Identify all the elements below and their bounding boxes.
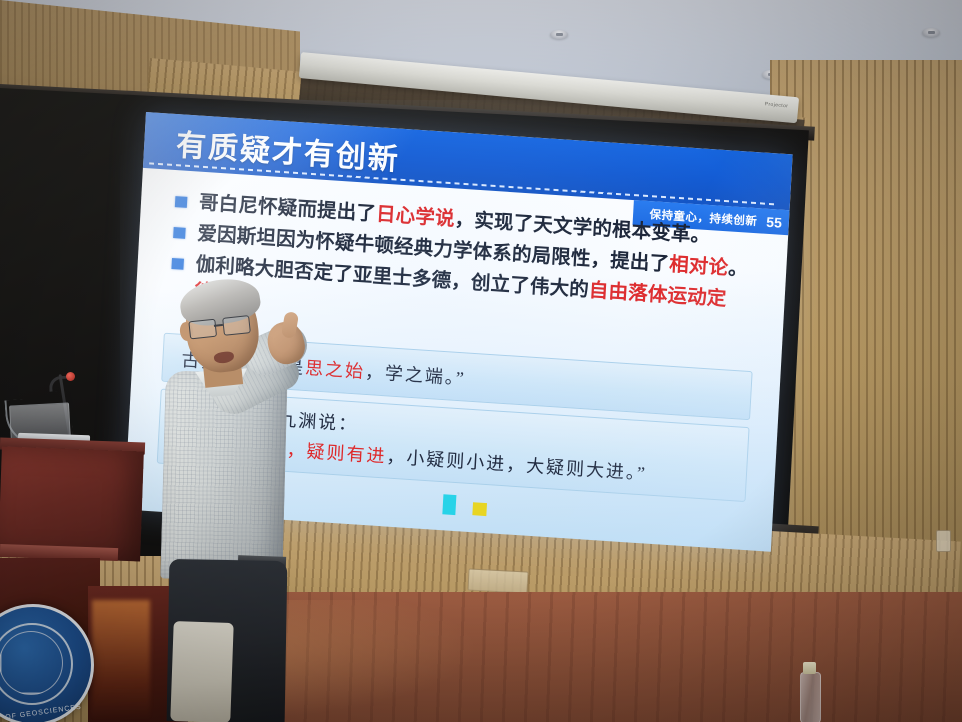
bullet-post: 。	[728, 257, 749, 280]
presenter-leg-highlight	[170, 621, 233, 722]
projector-roller-label: Projector	[764, 101, 788, 109]
university-emblem: OF GEOSCIENCES	[0, 604, 94, 722]
slide-number: 55	[766, 213, 782, 230]
sprinkler-icon	[922, 28, 940, 37]
wall-socket	[936, 530, 951, 552]
bullet-square-icon	[171, 258, 184, 270]
decor-chip-yellow	[472, 502, 487, 516]
emblem-text-wrap: OF GEOSCIENCES	[0, 607, 91, 722]
sprinkler-icon	[550, 30, 568, 39]
bullet-square-icon	[173, 227, 186, 239]
decor-chip-cyan	[442, 494, 456, 515]
bullet-highlight: 相对论	[669, 253, 729, 279]
lecture-hall-screenshot: Projector 有质疑才有创新 保持童心，持续创新 55 哥白尼怀疑而提出了…	[0, 0, 962, 722]
bullet-pre: 哥白尼怀疑而提出了	[198, 192, 376, 226]
bullet-highlight: 日心学说	[375, 203, 455, 230]
glasses-lens-right	[222, 315, 251, 336]
wall-plate	[467, 568, 528, 593]
glasses-lens-left	[188, 319, 217, 340]
quote-post: ，学之端。”	[365, 362, 467, 389]
water-bottle	[800, 672, 821, 722]
quote-post: ，小疑则小进，大疑则大进。”	[386, 446, 648, 483]
emblem-text: OF GEOSCIENCES	[5, 704, 82, 722]
glasses-bridge	[214, 324, 223, 327]
microphone-icon	[66, 372, 75, 381]
bullet-square-icon	[175, 196, 188, 208]
podium-light-glow	[92, 600, 150, 720]
water-bottle-cap	[803, 662, 816, 674]
quote-highlight: 思之始	[305, 358, 366, 382]
